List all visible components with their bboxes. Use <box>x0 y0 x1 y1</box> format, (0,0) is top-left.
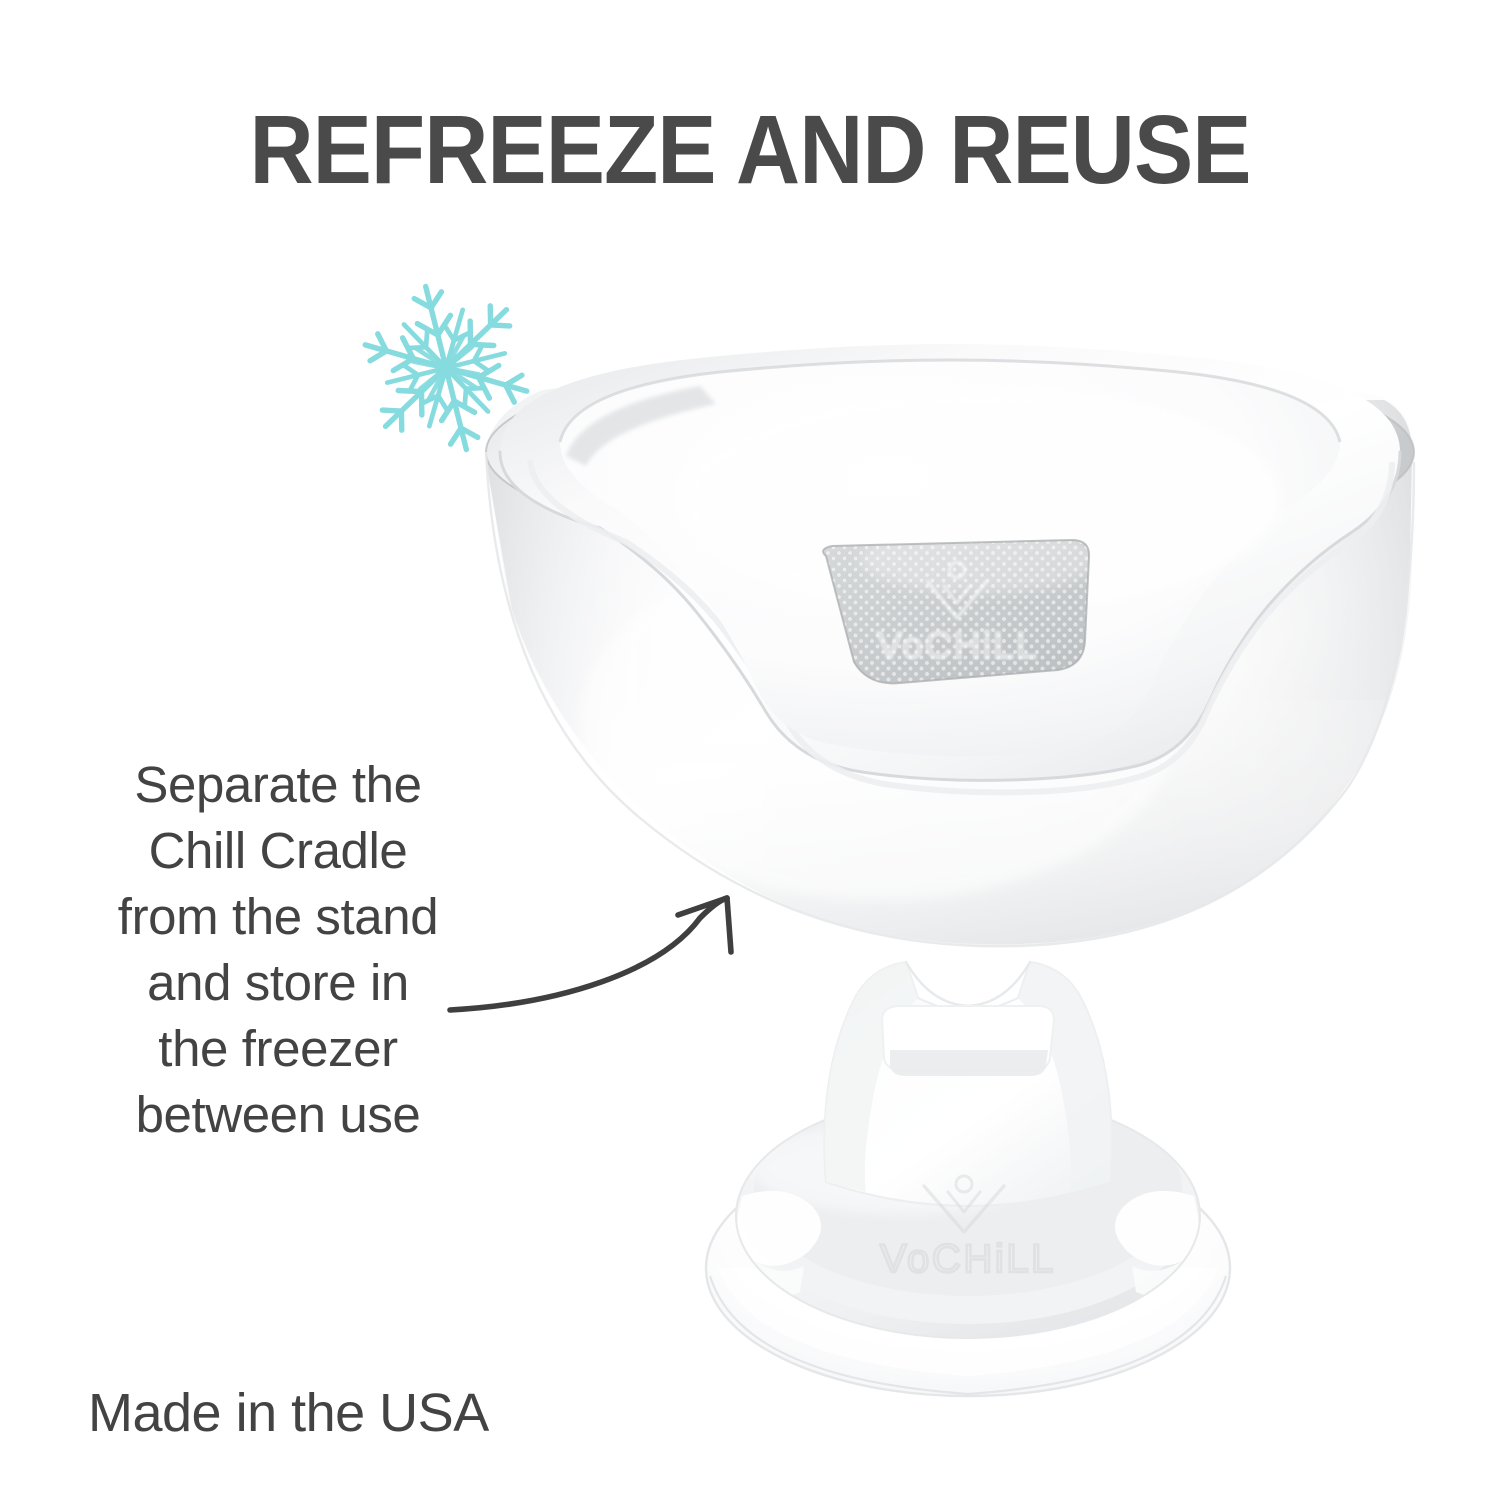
product-illustration: VoCHiLL <box>0 0 1500 1500</box>
instruction-text: Separate the Chill Cradle from the stand… <box>52 752 504 1148</box>
instruction-line-5: the freezer <box>52 1016 504 1082</box>
instruction-line-2: Chill Cradle <box>52 818 504 884</box>
product-stand: VoCHiLL <box>706 962 1230 1396</box>
instruction-line-1: Separate the <box>52 752 504 818</box>
cradle-logo-badge: VoCHiLL <box>810 526 1110 698</box>
svg-text:VoCHiLL: VoCHiLL <box>877 625 1038 666</box>
instruction-line-4: and store in <box>52 950 504 1016</box>
chill-cradle-bowl: VoCHiLL <box>470 344 1430 980</box>
infographic-canvas: VoCHiLL <box>0 0 1500 1500</box>
page-title: REFREEZE AND REUSE <box>64 101 1437 198</box>
annotation-layer <box>0 0 1500 1500</box>
instruction-line-6: between use <box>52 1082 504 1148</box>
instruction-line-3: from the stand <box>52 884 504 950</box>
stand-brand-logo: VoCHiLL <box>880 1176 1056 1281</box>
svg-text:VoCHiLL: VoCHiLL <box>880 1237 1056 1281</box>
made-in-usa-label: Made in the USA <box>88 1384 489 1443</box>
snowflake-icon <box>347 267 546 469</box>
